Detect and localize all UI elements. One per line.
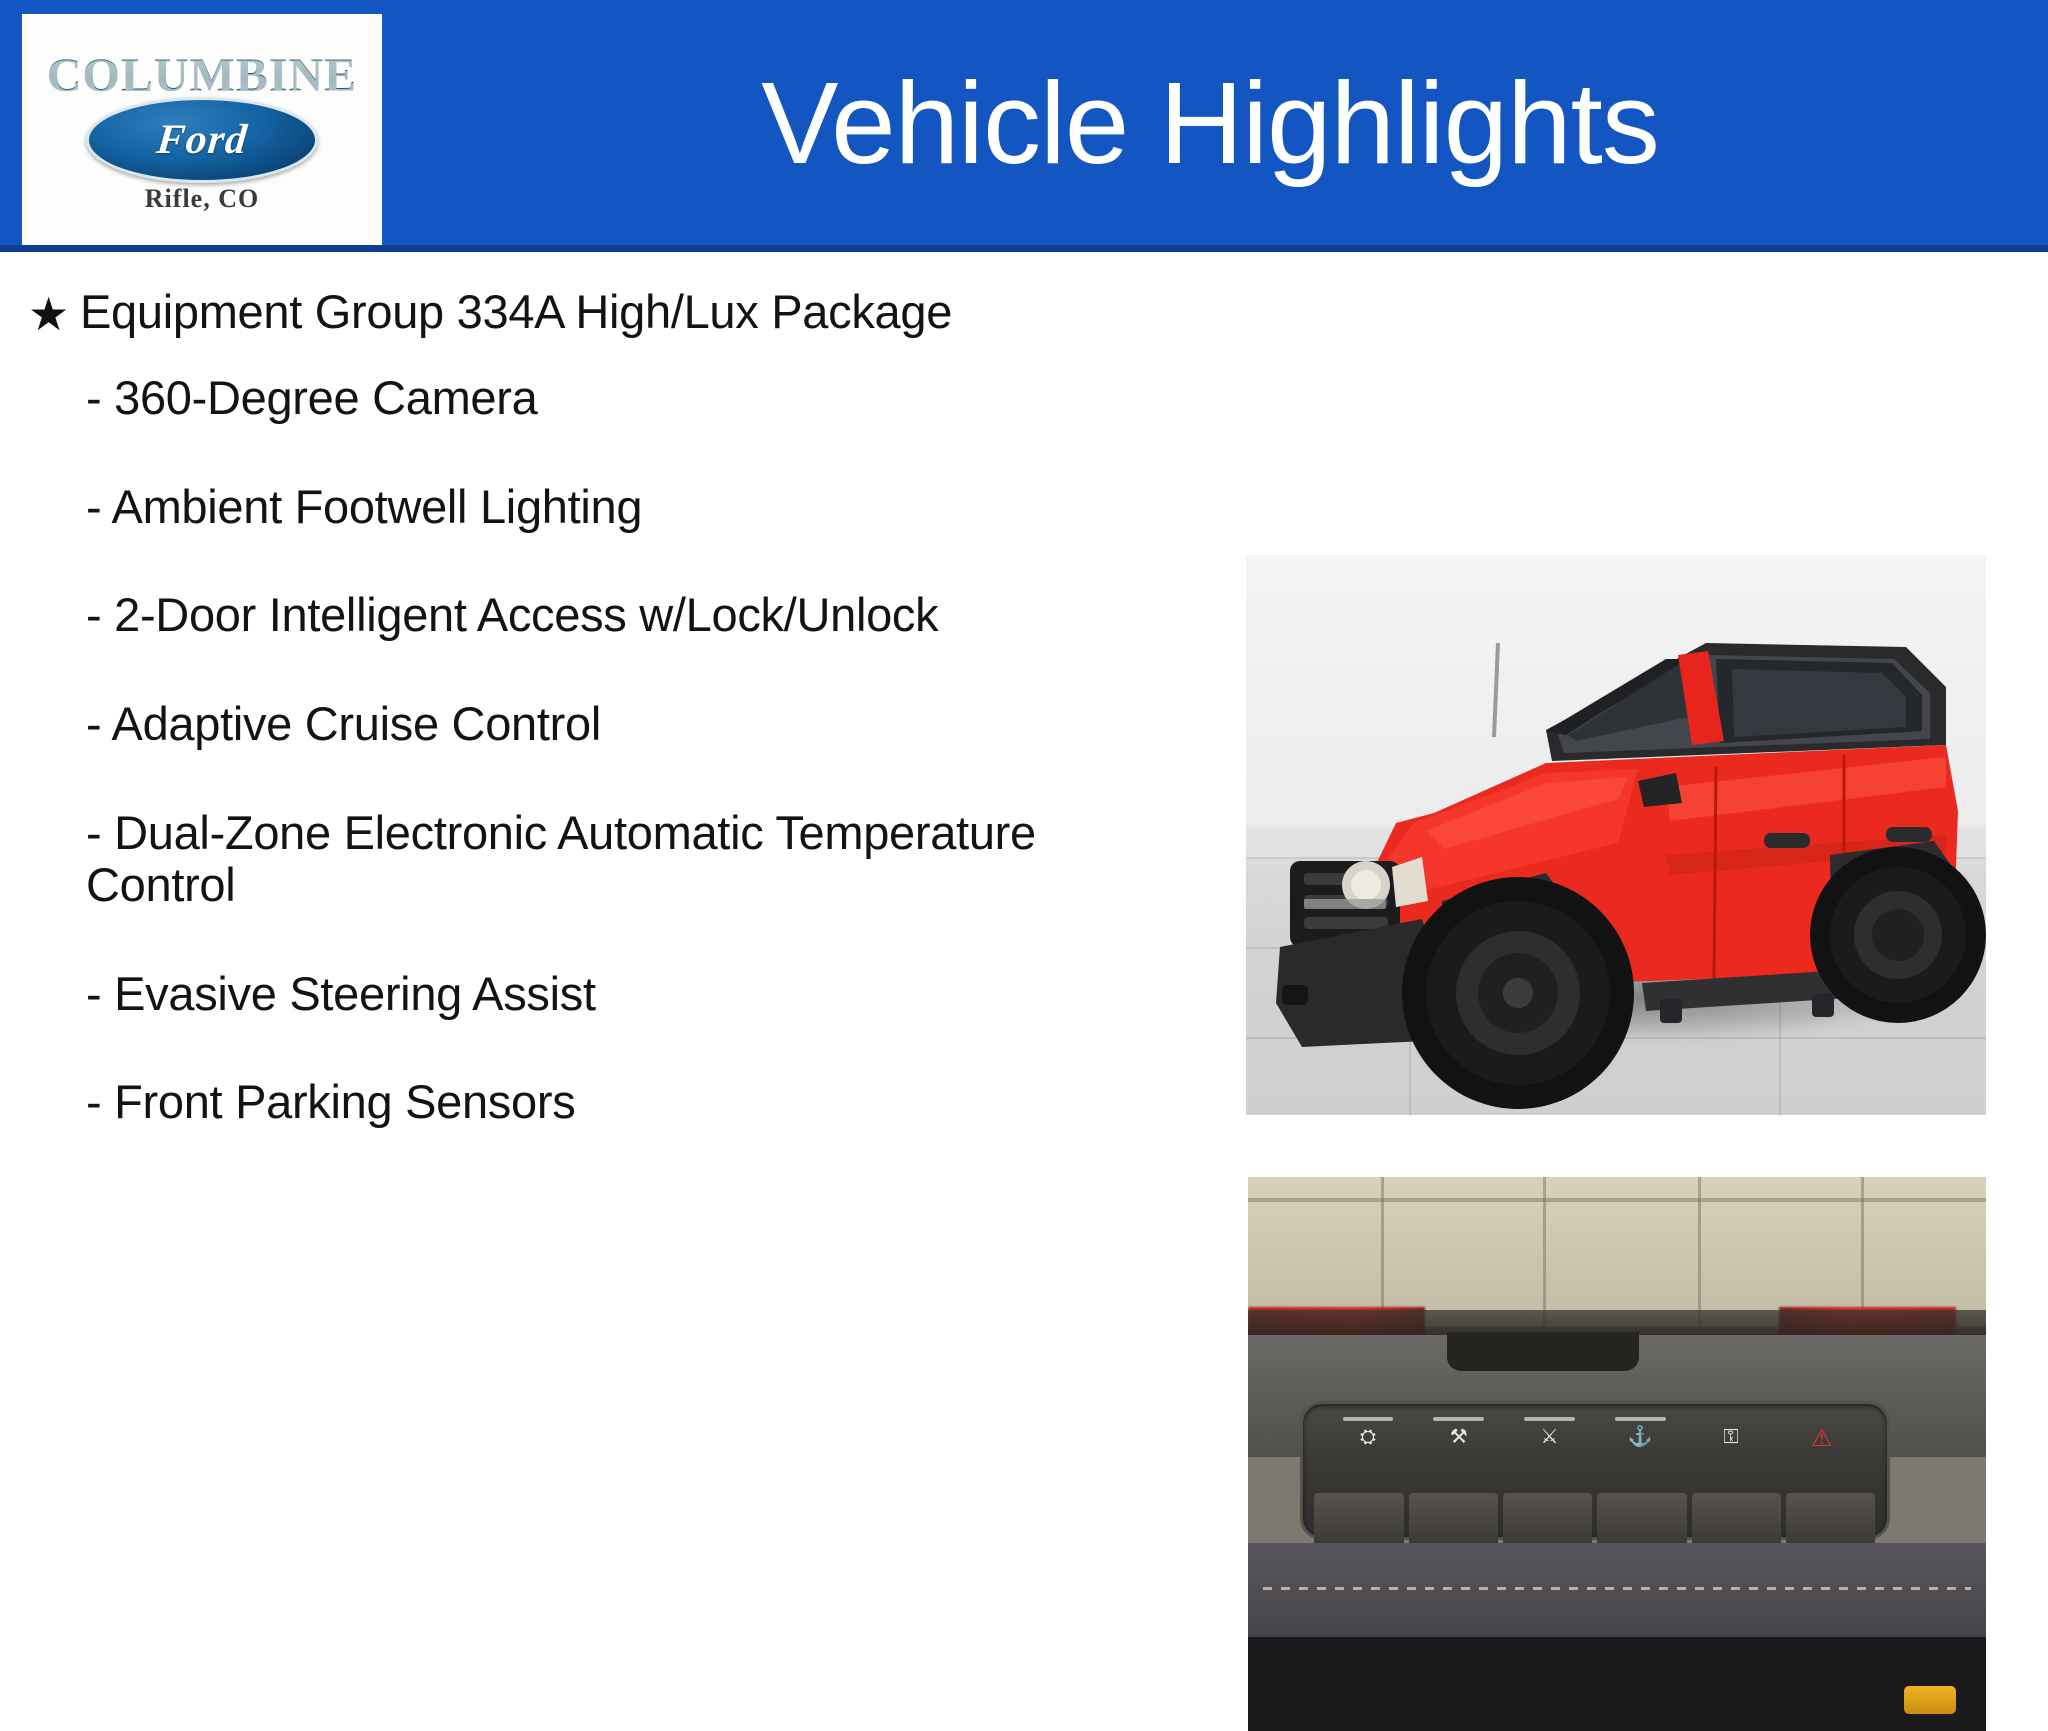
aux-switch-5[interactable]: ⚿	[1686, 1411, 1777, 1447]
aux-switch-5-icon: ⚿	[1723, 1427, 1738, 1447]
vehicle-interior-photo: ⛭ ⚒ ⚔ ⚓ ⚿ ⚠	[1248, 1177, 1986, 1731]
rocker-6[interactable]	[1786, 1493, 1875, 1548]
dealer-logo-name: COLUMBINE	[47, 52, 357, 100]
ceiling-rib	[1861, 1177, 1864, 1327]
ceiling-rib	[1543, 1177, 1546, 1327]
switch-label-bar	[1433, 1417, 1484, 1421]
list-item: - Evasive Steering Assist	[0, 968, 1146, 1021]
ford-wordmark: Ford	[155, 119, 250, 161]
aux-switch-3[interactable]: ⚔	[1504, 1411, 1595, 1447]
aux-switch-1-icon: ⛭	[1360, 1427, 1376, 1447]
ford-oval-icon: Ford	[86, 97, 318, 183]
list-item: - Dual-Zone Electronic Automatic Tempera…	[0, 807, 1146, 912]
dashboard-pad	[1248, 1543, 1986, 1643]
dashboard-lower-shadow	[1248, 1637, 1986, 1731]
slide-body: ★ Equipment Group 334A High/Lux Package …	[0, 252, 2048, 1536]
aux-switch-4[interactable]: ⚓	[1595, 1411, 1686, 1447]
list-item: - 2-Door Intelligent Access w/Lock/Unloc…	[0, 589, 1146, 642]
list-item: - 360-Degree Camera	[0, 372, 1146, 425]
vehicle-exterior-photo	[1246, 555, 1986, 1115]
rocker-1[interactable]	[1314, 1493, 1403, 1548]
rocker-3[interactable]	[1503, 1493, 1592, 1548]
highlights-list: ★ Equipment Group 334A High/Lux Package …	[0, 252, 1210, 1185]
ceiling-rib	[1698, 1177, 1701, 1327]
switch-label-bar	[1343, 1417, 1394, 1421]
page-title: Vehicle Highlights	[400, 0, 2020, 245]
slide-header: COLUMBINE Ford Rifle, CO Vehicle Highlig…	[0, 0, 2048, 252]
list-item: ★ Equipment Group 334A High/Lux Package	[0, 286, 1210, 342]
hazard-warning-icon: ⚠	[1811, 1427, 1833, 1451]
rocker-4[interactable]	[1597, 1493, 1686, 1548]
dealer-logo: COLUMBINE Ford Rifle, CO	[22, 14, 382, 248]
list-item-label: Equipment Group 334A High/Lux Package	[80, 286, 1210, 339]
ceiling-rib	[1381, 1177, 1384, 1327]
aux-switch-2-icon: ⚒	[1450, 1427, 1468, 1447]
hazard-switch[interactable]: ⚠	[1776, 1411, 1867, 1451]
aux-switch-4-icon: ⚓	[1628, 1427, 1653, 1447]
dashboard-stitching	[1263, 1587, 1971, 1590]
list-item: - Adaptive Cruise Control	[0, 698, 1146, 751]
aux-switch-3-icon: ⚔	[1541, 1427, 1559, 1447]
switch-label-bar	[1615, 1417, 1666, 1421]
switch-rocker-row[interactable]	[1314, 1493, 1875, 1548]
aux-switch-2[interactable]: ⚒	[1413, 1411, 1504, 1447]
aux-switch-1[interactable]: ⛭	[1323, 1411, 1414, 1447]
rocker-2[interactable]	[1409, 1493, 1498, 1548]
garage-ceiling	[1248, 1177, 1986, 1327]
switch-label-bar	[1524, 1417, 1575, 1421]
rocker-5[interactable]	[1692, 1493, 1781, 1548]
dealer-logo-city: Rifle, CO	[145, 186, 259, 212]
list-item: - Front Parking Sensors	[0, 1076, 1146, 1129]
star-icon: ★	[24, 286, 80, 342]
list-item: - Ambient Footwell Lighting	[0, 481, 1146, 534]
yellow-object	[1904, 1686, 1956, 1714]
mirror-mount	[1447, 1332, 1639, 1371]
ceiling-beam	[1248, 1198, 1986, 1202]
bronco-illustration	[1246, 555, 1986, 1115]
